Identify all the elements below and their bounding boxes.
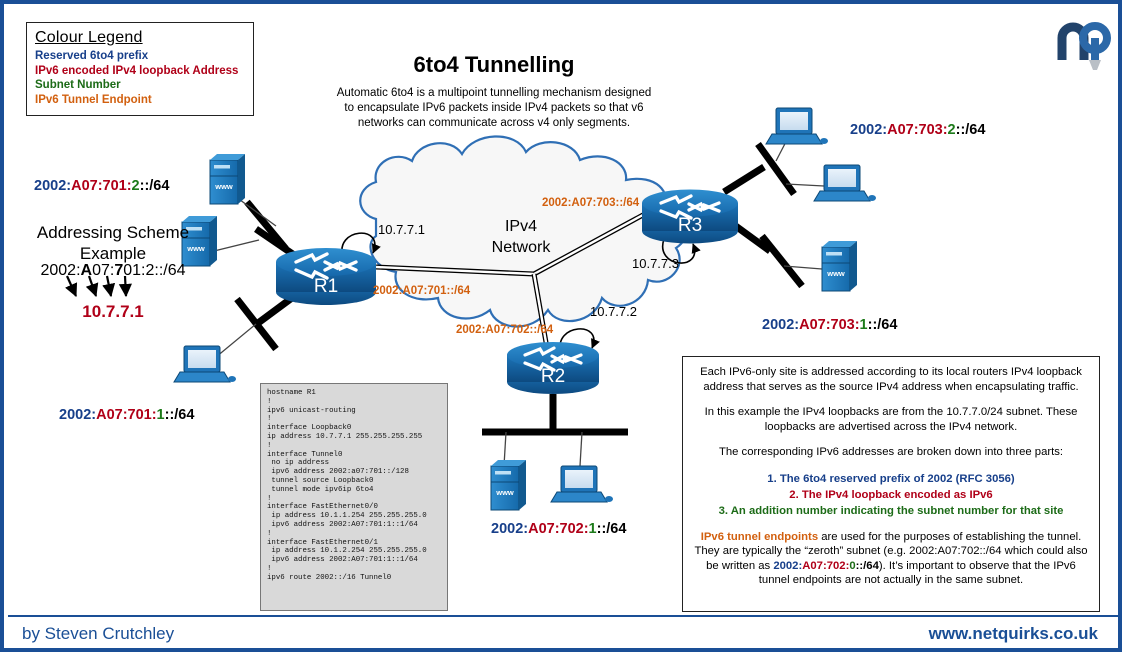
note-paragraph-3: The corresponding IPv6 addresses are bro… (693, 445, 1089, 460)
colour-legend: Colour Legend Reserved 6to4 prefix IPv6 … (26, 22, 254, 116)
svg-text:www: www (495, 488, 514, 497)
as-mid2: 01:2::/64 (123, 262, 185, 279)
r2-lan-links (482, 394, 628, 466)
loopback-label-r1: 10.7.7.1 (378, 222, 425, 237)
as-mid1: 07: (92, 262, 114, 279)
pc-r3-b[interactable] (814, 165, 876, 201)
legend-item-tunnel-endpoint: IPv6 Tunnel Endpoint (35, 93, 245, 108)
legend-item-subnet-number: Subnet Number (35, 78, 245, 93)
cloud-label-line2: Network (466, 237, 576, 258)
note-paragraph-2: In this example the IPv4 loopbacks are f… (693, 405, 1089, 434)
footer-website[interactable]: www.netquirks.co.uk (929, 624, 1098, 644)
note-part-2: 2. The IPv4 loopback encoded as IPv6 (693, 487, 1089, 503)
svg-text:www: www (826, 269, 845, 278)
addressing-scheme-heading: Addressing Scheme Example (18, 222, 208, 264)
router-label-r1: R1 (296, 276, 356, 298)
explanation-box: Each IPv6-only site is addressed accordi… (682, 356, 1100, 612)
as-ten: 10 (82, 302, 101, 321)
server-r3[interactable]: www (822, 241, 857, 291)
note-paragraph-1: Each IPv6-only site is addressed accordi… (693, 365, 1089, 394)
addressing-scheme-heading-line2: Example (18, 243, 208, 264)
as-b1: A (81, 262, 93, 279)
prefix-label-r1-site1: 2002:A07:701:1::/64 (59, 407, 194, 423)
loopback-label-r2: 10.7.7.2 (590, 304, 637, 319)
router-config-box[interactable]: hostname R1 ! ipv6 unicast-routing ! int… (260, 383, 448, 611)
server-r1-a[interactable]: www (210, 154, 245, 204)
legend-item-loopback: IPv6 encoded IPv4 loopback Address (35, 64, 245, 79)
prefix-label-r2-site1: 2002:A07:702:1::/64 (491, 521, 626, 537)
server-r2[interactable]: www (491, 460, 526, 510)
cloud-label: IPv4 Network (466, 216, 576, 258)
footer-author: by Steven Crutchley (22, 624, 174, 644)
note-part-1: 1. The 6to4 reserved prefix of 2002 (RFC… (693, 471, 1089, 487)
note-p4-loopback: A07:702: (802, 560, 849, 572)
router-config-text: hostname R1 ! ipv6 unicast-routing ! int… (267, 389, 441, 583)
netquirks-logo (1062, 26, 1107, 70)
cloud-label-line1: IPv4 (466, 216, 576, 237)
prefix-label-r1-site2: 2002:A07:701:2::/64 (34, 178, 169, 194)
diagram-page: www www www www (0, 0, 1122, 652)
router-label-r3: R3 (660, 215, 720, 237)
tunnel-endpoint-r1: 2002:A07:701::/64 (373, 285, 470, 297)
addressing-scheme-address: 2002:A07:701:2::/64 (18, 262, 208, 280)
prefix-label-r3-site2: 2002:A07:703:2::/64 (850, 122, 985, 138)
note-p4-tail: ::/64 (856, 560, 879, 572)
loopback-label-r3: 10.7.7.3 (632, 256, 679, 271)
tunnel-endpoint-r3: 2002:A07:703::/64 (542, 197, 639, 209)
tunnel-endpoint-r2: 2002:A07:702::/64 (456, 324, 553, 336)
legend-item-reserved-prefix: Reserved 6to4 prefix (35, 49, 245, 64)
r3-lan-links (724, 134, 824, 286)
addressing-scheme-heading-line1: Addressing Scheme (18, 222, 208, 243)
page-subtitle: Automatic 6to4 is a multipoint tunnellin… (334, 86, 654, 131)
as-b2: 7 (114, 262, 123, 279)
pc-r2[interactable] (551, 466, 613, 502)
router-label-r2: R2 (523, 366, 583, 388)
legend-title: Colour Legend (35, 29, 245, 47)
as-pre: 2002: (40, 262, 80, 279)
pc-r1[interactable] (174, 346, 236, 382)
note-part-3: 3. An addition number indicating the sub… (693, 503, 1089, 519)
note-paragraph-4: IPv6 tunnel endpoints are used for the p… (693, 530, 1089, 588)
addressing-scheme-mapped-ipv4: 10.7.7.1 (18, 302, 208, 322)
as-rest: .7.7.1 (101, 302, 144, 321)
pc-r3-a[interactable] (766, 108, 828, 144)
svg-text:www: www (214, 182, 233, 191)
note-tunnel-endpoints-term: IPv6 tunnel endpoints (701, 531, 818, 543)
page-title: 6to4 Tunnelling (304, 52, 684, 78)
note-p4-prefix: 2002: (773, 560, 802, 572)
prefix-label-r3-site1: 2002:A07:703:1::/64 (762, 317, 897, 333)
